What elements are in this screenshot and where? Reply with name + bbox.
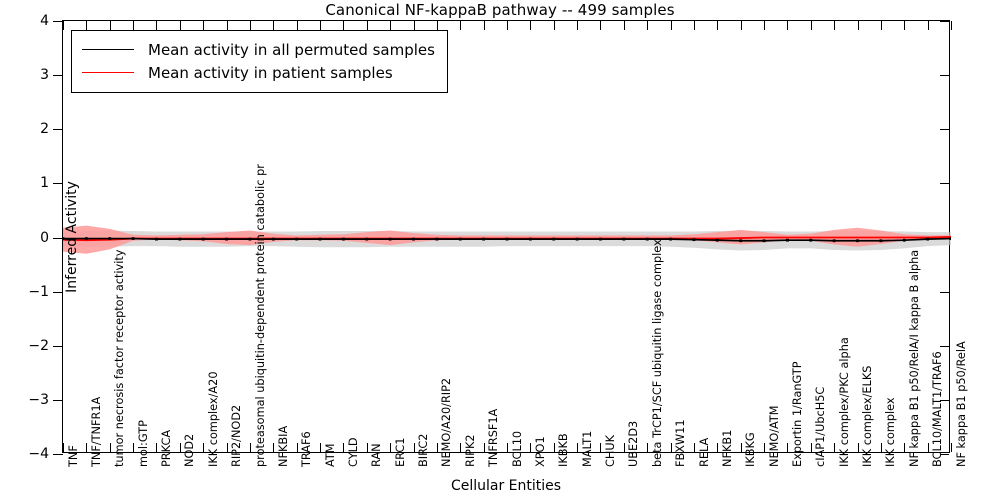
y-tick xyxy=(53,129,63,130)
x-tick xyxy=(63,443,64,452)
x-tick xyxy=(951,443,952,452)
x-tick-top xyxy=(180,21,181,30)
x-tick xyxy=(460,443,461,452)
data-point xyxy=(693,238,696,241)
x-tick-label: IKBKG xyxy=(745,432,756,467)
x-tick-top xyxy=(530,21,531,30)
data-point xyxy=(833,239,836,242)
x-tick xyxy=(343,443,344,452)
plot-axes: Inferred Activity −4−3−2−101234 TNFTNF/T… xyxy=(62,20,950,453)
data-point xyxy=(342,238,345,241)
x-tick-label: beta TrCP1/SCF ubiquitin ligase complex xyxy=(652,239,663,467)
data-point xyxy=(739,239,742,242)
legend-item: Mean activity in patient samples xyxy=(82,61,435,84)
x-tick xyxy=(530,443,531,452)
x-tick xyxy=(484,443,485,452)
y-tick-label: −4 xyxy=(28,446,49,462)
x-tick-label: BCL10 xyxy=(512,431,523,467)
x-tick-top xyxy=(787,21,788,30)
x-tick-label: IKK complex/A20 xyxy=(208,371,219,467)
x-tick-label: NFKBIA xyxy=(278,426,289,467)
x-tick-top xyxy=(343,21,344,30)
data-point xyxy=(319,238,322,241)
chart-title: Canonical NF-kappaB pathway -- 499 sampl… xyxy=(0,1,1000,19)
data-point xyxy=(786,239,789,242)
x-tick xyxy=(717,443,718,452)
x-tick-label: TNFRSF1A xyxy=(488,409,499,467)
data-point xyxy=(576,238,579,241)
x-tick-top xyxy=(951,21,952,30)
legend-line-patient xyxy=(82,72,134,73)
data-point xyxy=(435,238,438,241)
x-tick-top xyxy=(717,21,718,30)
x-tick-label: RELA xyxy=(699,438,710,467)
data-point xyxy=(809,239,812,242)
x-tick xyxy=(811,443,812,452)
x-tick-top xyxy=(904,21,905,30)
x-tick-label: NFKB1 xyxy=(722,430,733,467)
x-tick-label: TNF/TNFR1A xyxy=(91,397,102,467)
y-axis-label: Inferred Activity xyxy=(64,181,80,293)
x-tick-label: NEMO/A20/RIP2 xyxy=(441,378,452,467)
data-point xyxy=(646,238,649,241)
data-point xyxy=(249,238,252,241)
x-tick-label: mol:GTP xyxy=(138,420,149,467)
x-tick-label: IKK complex xyxy=(885,397,896,467)
x-tick-label: CYLD xyxy=(348,437,359,467)
x-tick xyxy=(600,443,601,452)
x-tick xyxy=(250,443,251,452)
x-tick-label: BCL10/MALT1/TRAF6 xyxy=(932,351,943,467)
data-point xyxy=(178,238,181,241)
y-tick xyxy=(53,292,63,293)
x-tick-top xyxy=(928,21,929,30)
data-point xyxy=(622,238,625,241)
x-tick-top xyxy=(741,21,742,30)
x-tick-label: TRAF6 xyxy=(301,431,312,467)
x-tick xyxy=(180,443,181,452)
x-tick-top xyxy=(320,21,321,30)
x-tick-label: NF kappa B1 p50/RelA xyxy=(956,341,967,467)
x-tick-top xyxy=(694,21,695,30)
x-tick xyxy=(156,443,157,452)
x-tick xyxy=(624,443,625,452)
x-tick xyxy=(741,443,742,452)
x-tick-label: BIRC2 xyxy=(418,434,429,467)
x-tick-top xyxy=(63,21,64,30)
chart-figure: Canonical NF-kappaB pathway -- 499 sampl… xyxy=(0,0,1000,500)
x-tick-top xyxy=(156,21,157,30)
data-point xyxy=(85,237,88,240)
x-tick-label: cIAP1/UbcH5C xyxy=(815,387,826,467)
x-tick-label: IKK complex/PKC alpha xyxy=(839,337,850,467)
x-tick-top xyxy=(671,21,672,30)
x-tick-top xyxy=(297,21,298,30)
x-tick xyxy=(881,443,882,452)
x-tick-top xyxy=(460,21,461,30)
y-tick xyxy=(53,400,63,401)
y-tick xyxy=(53,238,63,239)
y-tick-right xyxy=(940,75,949,76)
data-point xyxy=(506,238,509,241)
x-tick-label: RIP2/NOD2 xyxy=(231,405,242,467)
y-tick xyxy=(53,21,63,22)
x-tick xyxy=(367,443,368,452)
x-tick xyxy=(577,443,578,452)
x-tick xyxy=(273,443,274,452)
data-point xyxy=(412,238,415,241)
y-tick-right xyxy=(940,346,949,347)
x-tick xyxy=(227,443,228,452)
x-tick-label: NOD2 xyxy=(184,434,195,467)
x-tick-top xyxy=(507,21,508,30)
x-tick-top xyxy=(577,21,578,30)
x-tick xyxy=(203,443,204,452)
x-tick-top xyxy=(624,21,625,30)
x-tick xyxy=(133,443,134,452)
x-tick-top xyxy=(250,21,251,30)
y-tick xyxy=(53,454,63,455)
x-tick xyxy=(764,443,765,452)
x-tick-label: proteasomal ubiquitin-dependent protein … xyxy=(255,164,266,467)
x-tick-top xyxy=(764,21,765,30)
x-tick-top xyxy=(86,21,87,30)
x-tick-label: RAN xyxy=(371,443,382,467)
x-tick-top xyxy=(554,21,555,30)
y-tick xyxy=(53,183,63,184)
x-tick-top xyxy=(273,21,274,30)
x-tick-top xyxy=(834,21,835,30)
x-tick xyxy=(694,443,695,452)
data-point xyxy=(482,238,485,241)
data-point xyxy=(903,239,906,242)
x-tick xyxy=(110,443,111,452)
y-tick xyxy=(53,346,63,347)
data-point xyxy=(155,238,158,241)
data-point xyxy=(856,239,859,242)
x-tick xyxy=(554,443,555,452)
x-tick xyxy=(904,443,905,452)
data-point xyxy=(763,239,766,242)
x-tick-top xyxy=(203,21,204,30)
data-point xyxy=(950,237,951,240)
x-tick-label: MALT1 xyxy=(582,431,593,467)
legend-item: Mean activity in all permuted samples xyxy=(82,38,435,61)
data-point xyxy=(202,238,205,241)
x-tick-top xyxy=(437,21,438,30)
x-tick xyxy=(671,443,672,452)
y-tick-label: 0 xyxy=(40,230,49,246)
x-tick-label: CHUK xyxy=(605,435,616,467)
data-point xyxy=(599,238,602,241)
x-tick-label: tumor necrosis factor receptor activity xyxy=(114,250,125,467)
x-tick xyxy=(507,443,508,452)
x-tick xyxy=(787,443,788,452)
data-point xyxy=(389,238,392,241)
data-point xyxy=(459,238,462,241)
x-tick-label: PRKCA xyxy=(161,430,172,467)
data-point xyxy=(926,238,929,241)
y-tick-label: −1 xyxy=(28,284,49,300)
x-tick-top xyxy=(133,21,134,30)
x-tick-label: TNF xyxy=(68,445,79,467)
y-tick-right xyxy=(940,292,949,293)
data-point xyxy=(272,238,275,241)
x-tick xyxy=(390,443,391,452)
x-tick-top xyxy=(414,21,415,30)
data-point xyxy=(108,237,111,240)
x-tick-top xyxy=(600,21,601,30)
y-tick-right xyxy=(940,183,949,184)
x-tick-label: NF kappa B1 p50/RelA/I kappa B alpha xyxy=(909,250,920,467)
data-point xyxy=(295,238,298,241)
x-tick-top xyxy=(390,21,391,30)
x-tick-label: IKK complex/ELKS xyxy=(862,366,873,467)
y-tick-label: −3 xyxy=(28,392,49,408)
x-tick-top xyxy=(227,21,228,30)
y-tick-right xyxy=(940,21,949,22)
chart-legend: Mean activity in all permuted samples Me… xyxy=(71,30,448,93)
y-tick-label: 2 xyxy=(40,121,49,137)
data-point xyxy=(365,238,368,241)
x-tick-label: NEMO/ATM xyxy=(769,405,780,467)
data-point xyxy=(716,239,719,242)
x-tick xyxy=(647,443,648,452)
x-tick-top xyxy=(110,21,111,30)
x-tick-label: ERC1 xyxy=(395,438,406,468)
x-tick-top xyxy=(484,21,485,30)
x-tick xyxy=(320,443,321,452)
data-point xyxy=(132,237,135,240)
y-tick-label: 1 xyxy=(40,175,49,191)
data-point xyxy=(552,238,555,241)
y-tick-label: 4 xyxy=(40,13,49,29)
data-point xyxy=(669,238,672,241)
x-tick-label: UBE2D3 xyxy=(628,421,639,467)
data-point xyxy=(879,239,882,242)
x-tick xyxy=(437,443,438,452)
x-axis-label: Cellular Entities xyxy=(62,478,950,494)
y-tick xyxy=(53,75,63,76)
x-tick-label: IKBKB xyxy=(558,433,569,467)
x-tick-label: FBXW11 xyxy=(675,419,686,467)
x-tick-top xyxy=(881,21,882,30)
x-tick-label: RIPK2 xyxy=(465,434,476,467)
x-tick-label: Exportin 1/RanGTP xyxy=(792,361,803,467)
x-tick-top xyxy=(811,21,812,30)
x-tick-top xyxy=(367,21,368,30)
legend-line-permuted xyxy=(82,49,134,50)
x-tick xyxy=(858,443,859,452)
data-point xyxy=(225,238,228,241)
x-tick-top xyxy=(858,21,859,30)
y-tick-right xyxy=(940,129,949,130)
x-tick xyxy=(414,443,415,452)
y-tick-label: 3 xyxy=(40,67,49,83)
x-tick xyxy=(297,443,298,452)
x-tick-top xyxy=(647,21,648,30)
x-tick-label: XPO1 xyxy=(535,436,546,467)
x-tick xyxy=(928,443,929,452)
legend-label: Mean activity in patient samples xyxy=(148,64,393,82)
y-tick-right xyxy=(940,238,949,239)
legend-label: Mean activity in all permuted samples xyxy=(148,41,435,59)
data-point xyxy=(529,238,532,241)
y-tick-label: −2 xyxy=(28,338,49,354)
x-tick xyxy=(834,443,835,452)
x-tick-label: ATM xyxy=(325,444,336,468)
x-tick xyxy=(86,443,87,452)
